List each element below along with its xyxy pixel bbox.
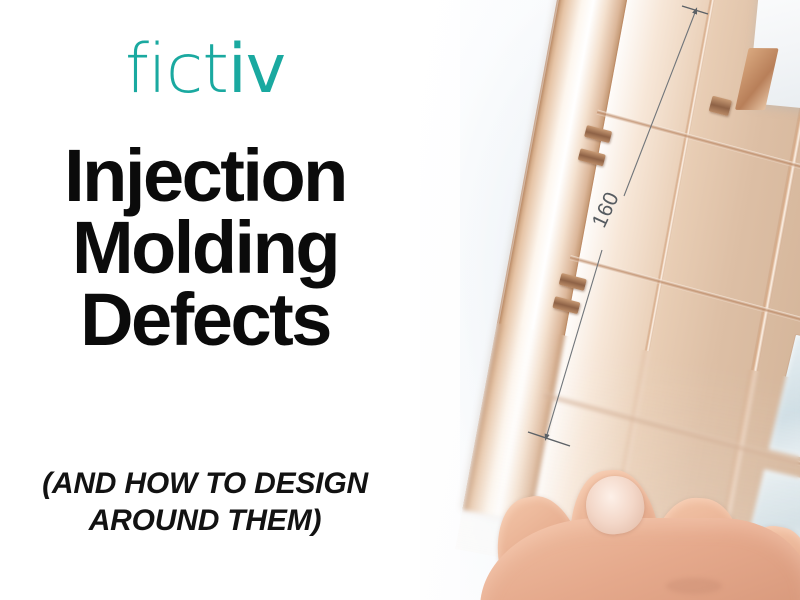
- page-title-line-2: Molding: [0, 212, 410, 284]
- title-panel: fictiv Injection Molding Defects (AND HO…: [0, 0, 440, 600]
- page-subtitle-line-2: AROUND THEM): [0, 503, 410, 540]
- page-title-line-3: Defects: [0, 284, 410, 356]
- product-photo: 160: [420, 0, 800, 600]
- page-subtitle: (AND HOW TO DESIGN AROUND THEM): [0, 466, 410, 539]
- logo-text-bold: iv: [228, 30, 285, 109]
- hand-holding-part: [470, 452, 800, 600]
- logo-text-light: fict: [125, 30, 228, 109]
- fictiv-logo[interactable]: fictiv: [0, 36, 410, 104]
- page-subtitle-line-1: (AND HOW TO DESIGN: [0, 466, 410, 503]
- page-title: Injection Molding Defects: [0, 140, 410, 355]
- page-title-line-1: Injection: [0, 140, 410, 212]
- knuckle-crease: [666, 578, 722, 594]
- slide-canvas: 160 fictiv Injection Molding Defects (AN…: [0, 0, 800, 600]
